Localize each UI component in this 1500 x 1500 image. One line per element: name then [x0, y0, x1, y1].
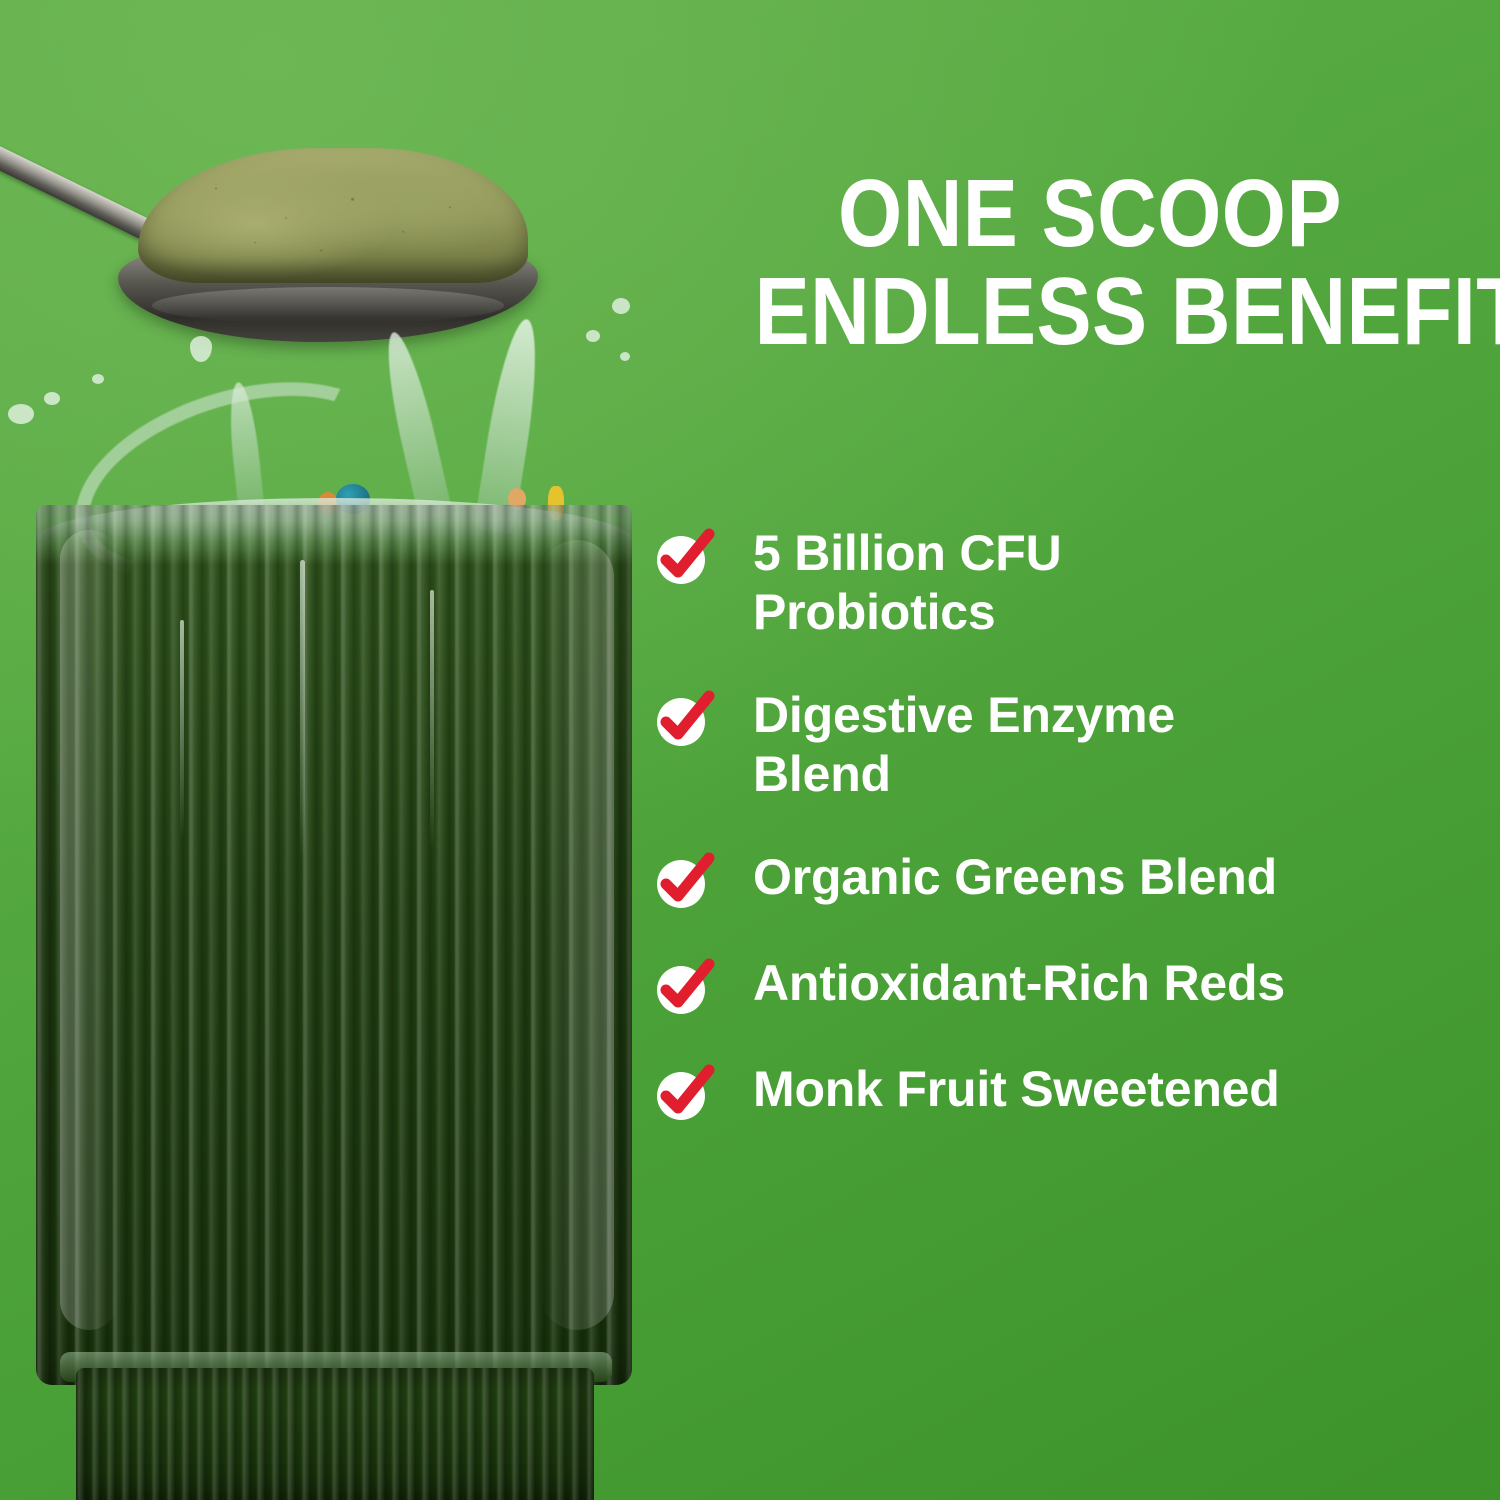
glass-highlight-right [540, 540, 614, 1330]
splash-jet-middle [377, 329, 453, 522]
red-check-icon [655, 692, 711, 748]
benefit-label: Organic Greens Blend [753, 848, 1277, 907]
benefit-item-reds: Antioxidant-Rich Reds [655, 954, 1485, 1016]
splash-droplet [8, 404, 34, 424]
glass-drip [430, 590, 434, 850]
benefit-label: Monk Fruit Sweetened [753, 1060, 1280, 1119]
benefit-item-probiotics: 5 Billion CFU Probiotics [655, 524, 1485, 642]
green-powder-scoop [138, 148, 528, 283]
splash-droplet [92, 374, 104, 384]
product-photo [0, 0, 680, 1500]
glass-highlight-left [60, 530, 118, 1330]
red-check-icon [655, 854, 711, 910]
product-benefits-graphic: ONE SCOOP ENDLESS BENEFITS 5 Billion CFU… [0, 0, 1500, 1500]
headline-line-1: ONE SCOOP [755, 168, 1426, 260]
glass-drip [180, 620, 184, 840]
page-title: ONE SCOOP ENDLESS BENEFITS [700, 168, 1480, 358]
benefit-item-monk-fruit: Monk Fruit Sweetened [655, 1060, 1485, 1122]
splash-droplet [620, 352, 630, 361]
benefit-item-greens: Organic Greens Blend [655, 848, 1485, 910]
red-check-icon [655, 530, 711, 586]
glass-base-fluting [76, 1368, 594, 1500]
glass-base [76, 1368, 594, 1500]
benefit-item-enzymes: Digestive Enzyme Blend [655, 686, 1485, 804]
benefit-label: Digestive Enzyme Blend [753, 686, 1313, 804]
splash-droplet [190, 336, 212, 362]
benefits-list: 5 Billion CFU Probiotics Digestive Enzym… [655, 524, 1485, 1122]
red-check-icon [655, 1066, 711, 1122]
benefit-label: Antioxidant-Rich Reds [753, 954, 1285, 1013]
splash-droplet [586, 330, 600, 342]
headline-line-2: ENDLESS BENEFITS [755, 266, 1426, 358]
benefit-label: 5 Billion CFU Probiotics [753, 524, 1313, 642]
splash-droplet [44, 392, 60, 405]
red-check-icon [655, 960, 711, 1016]
splash-droplet [612, 298, 630, 314]
glass-drip [300, 560, 305, 860]
